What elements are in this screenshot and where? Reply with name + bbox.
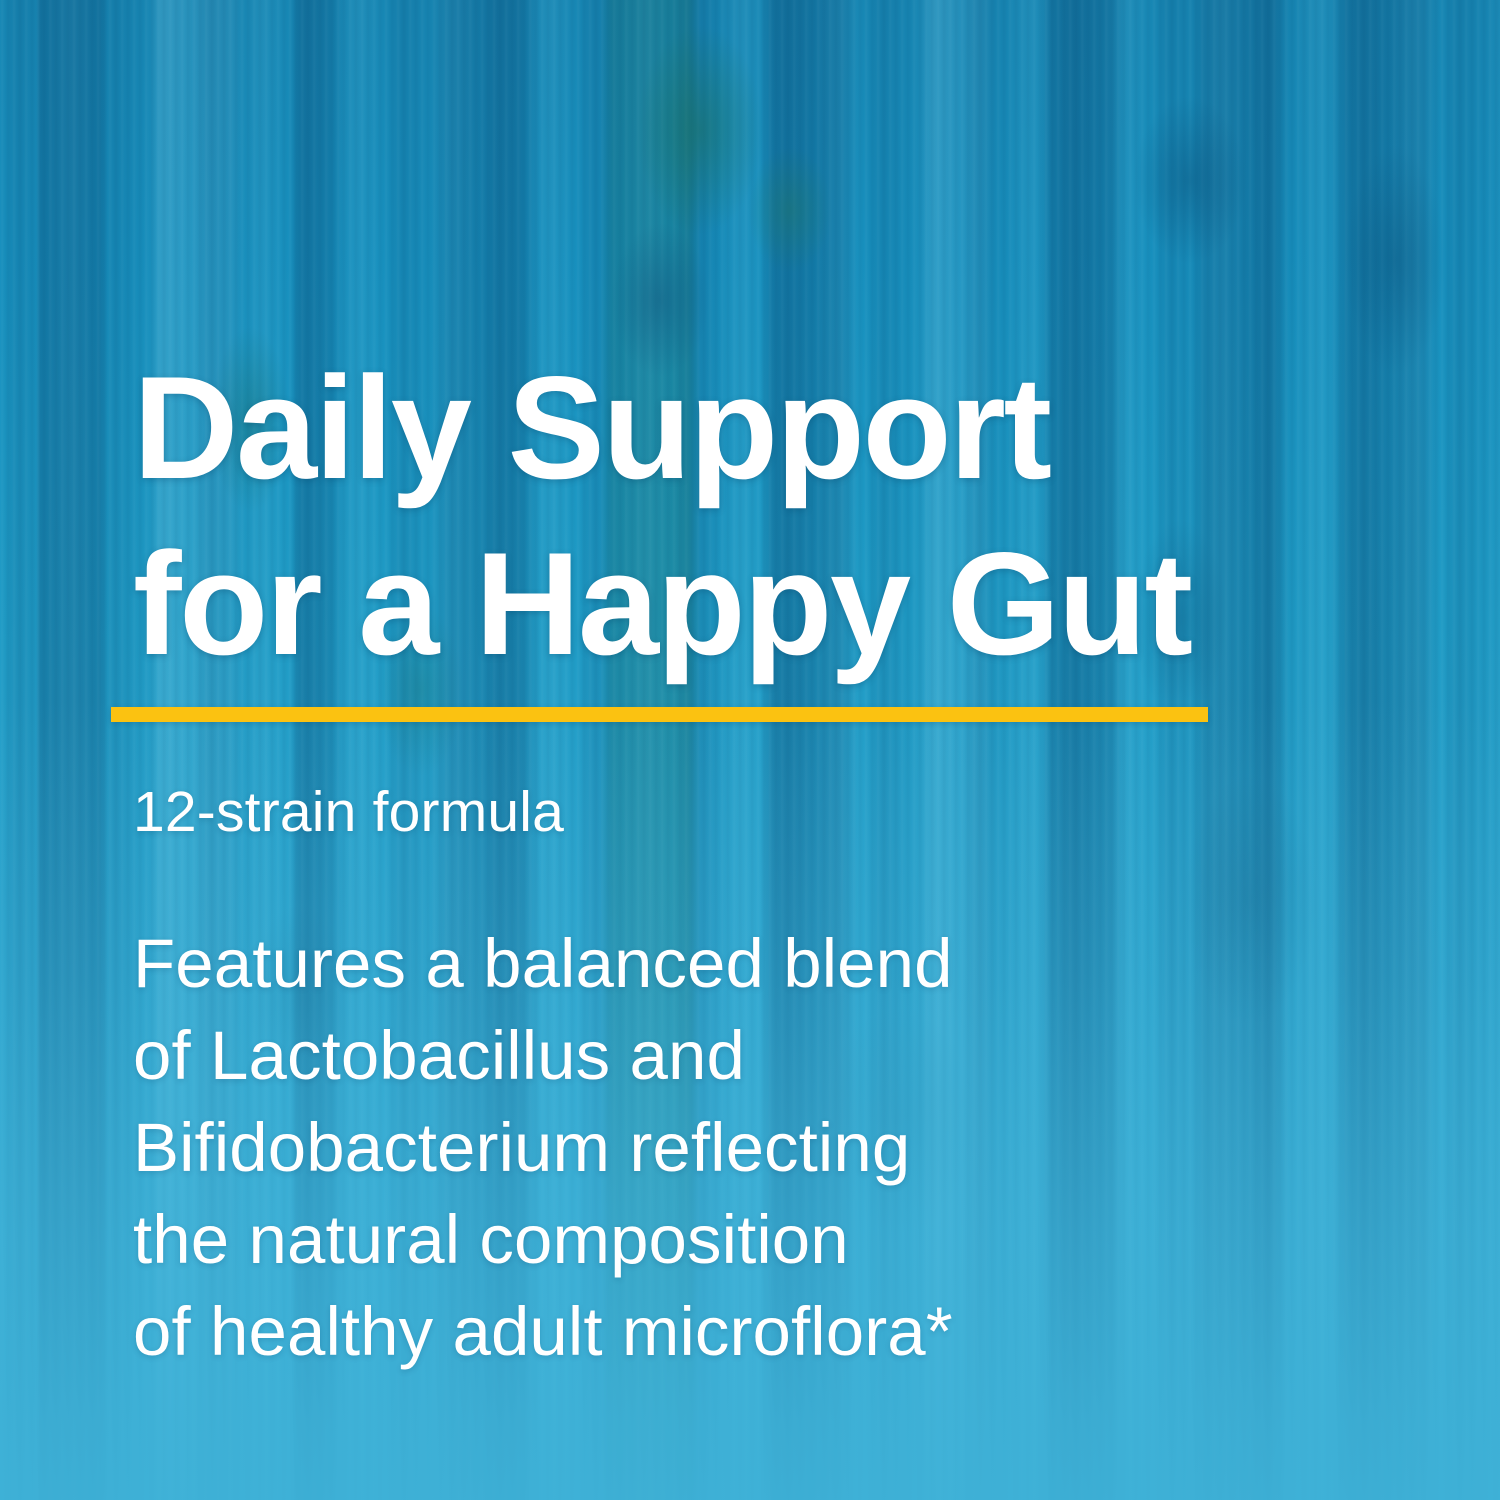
headline-line-1: Daily Support (133, 340, 1273, 516)
body-copy: Features a balanced blend of Lactobacill… (133, 918, 1133, 1378)
body-copy-line-1: Features a balanced blend (133, 918, 1133, 1010)
body-copy-line-5: of healthy adult microflora* (133, 1286, 1133, 1378)
body-copy-line-2: of Lactobacillus and (133, 1010, 1133, 1102)
body-copy-line-3: Bifidobacterium reflecting (133, 1102, 1133, 1194)
body-copy-line-4: the natural composition (133, 1194, 1133, 1286)
gold-divider-rule (111, 707, 1208, 722)
headline-line-2: for a Happy Gut (133, 516, 1273, 692)
content-block: Daily Support for a Happy Gut 12-strain … (133, 0, 1313, 1500)
subheadline: 12-strain formula (133, 779, 564, 845)
product-benefit-poster: Daily Support for a Happy Gut 12-strain … (0, 0, 1500, 1500)
headline: Daily Support for a Happy Gut (133, 340, 1273, 692)
